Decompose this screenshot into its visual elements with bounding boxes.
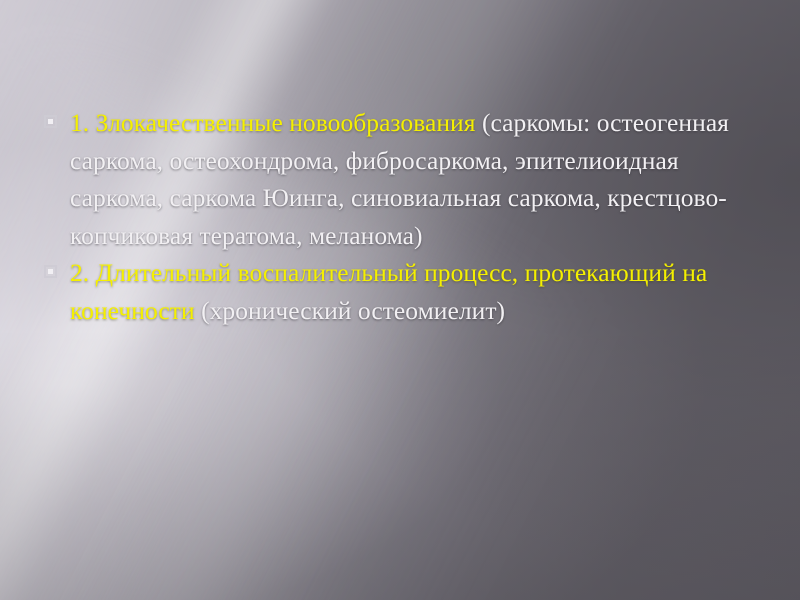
list-item-text: 1. Злокачественные новообразования (сарк… bbox=[70, 104, 760, 254]
list-item-text: 2. Длительный воспалительный процесс, пр… bbox=[70, 254, 760, 329]
slide-body-placeholder: 1. Злокачественные новообразования (сарк… bbox=[44, 104, 760, 329]
presentation-slide: 1. Злокачественные новообразования (сарк… bbox=[0, 0, 800, 600]
list-item-text-body: (хронический остеомиелит) bbox=[201, 296, 505, 325]
square-bullet-icon bbox=[44, 115, 57, 128]
square-bullet-icon bbox=[44, 265, 57, 278]
list-item-text-highlight: 1. Злокачественные новообразования bbox=[70, 108, 482, 137]
list-item: 1. Злокачественные новообразования (сарк… bbox=[44, 104, 760, 254]
list-item: 2. Длительный воспалительный процесс, пр… bbox=[44, 254, 760, 329]
